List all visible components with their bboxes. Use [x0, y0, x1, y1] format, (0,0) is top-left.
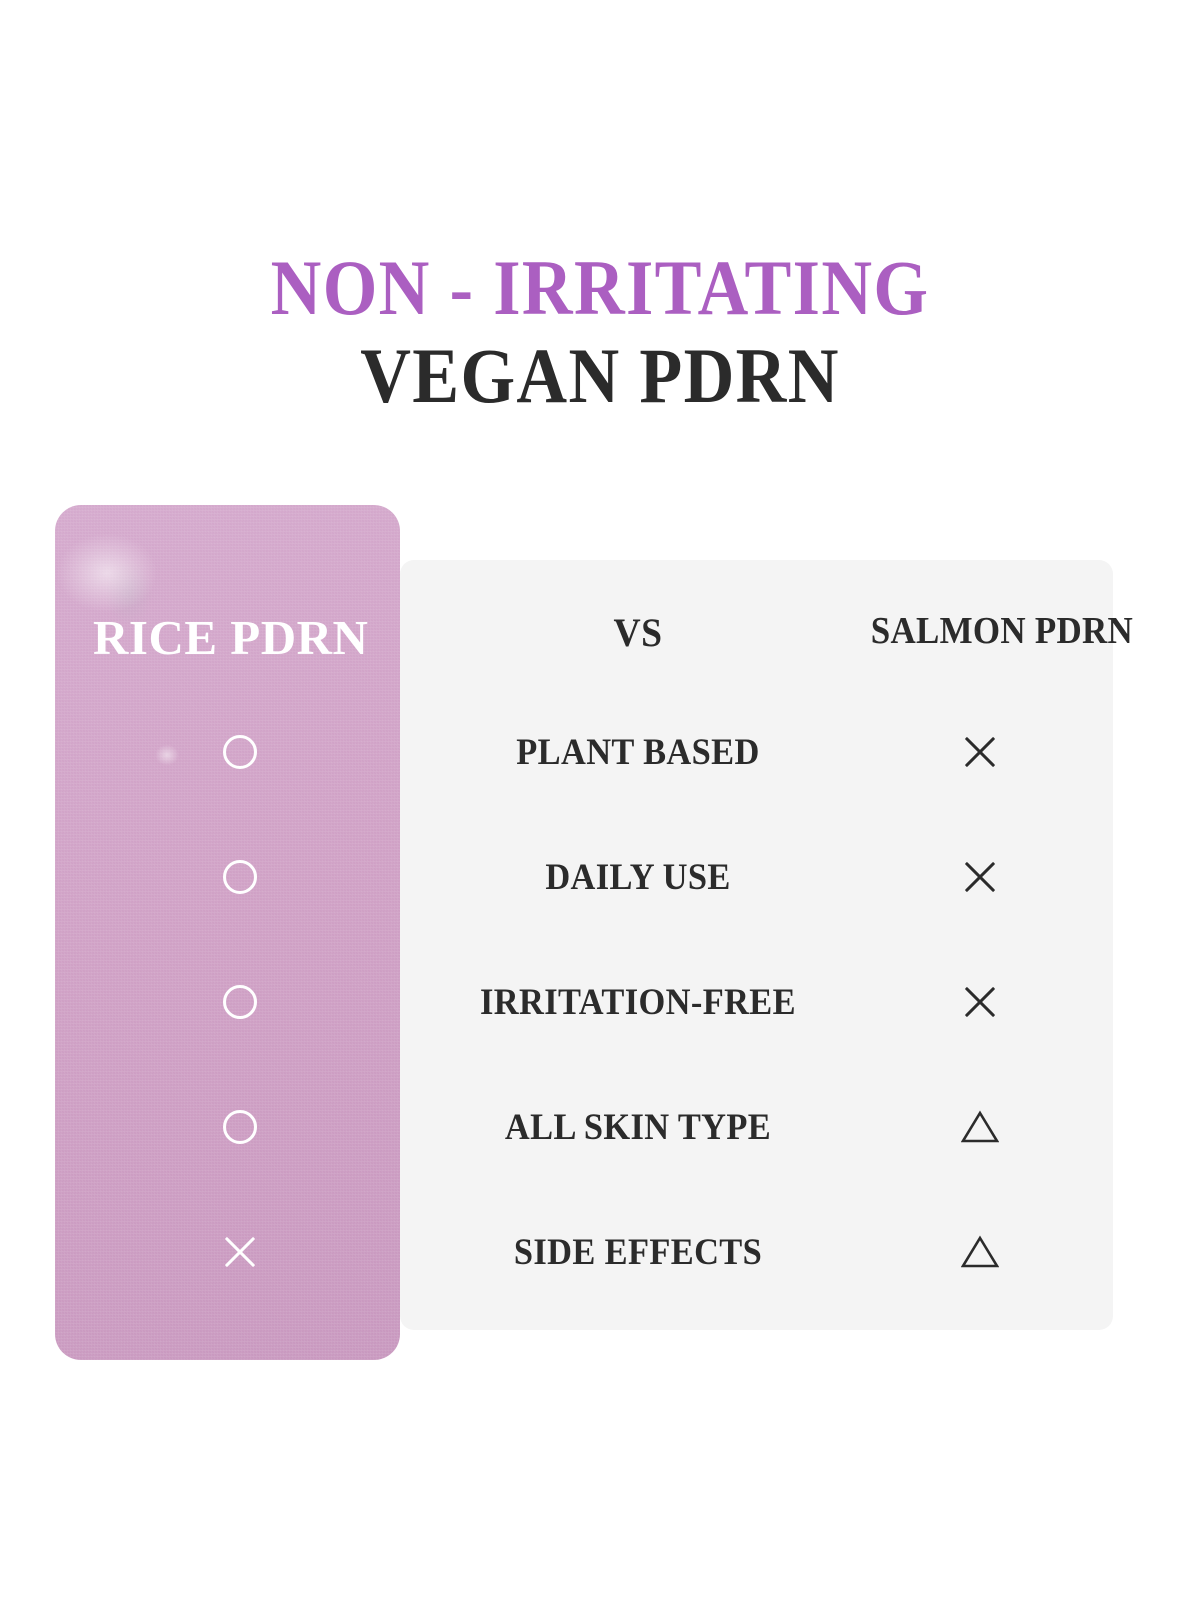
comparison-table: RICE PDRN VS SALMON PDRN PLANT BASEDDAIL…	[55, 505, 1113, 1360]
headline-line-1: NON - IRRITATING	[60, 248, 1140, 328]
circle-icon	[223, 1110, 257, 1144]
salmon-pdrn-mark	[876, 722, 1113, 782]
rice-pdrn-mark	[55, 847, 400, 907]
cross-icon	[224, 1236, 256, 1268]
comparison-row: DAILY USE	[55, 847, 1113, 907]
comparison-row: SIDE EFFECTS	[55, 1222, 1113, 1282]
rice-pdrn-mark	[55, 1222, 400, 1282]
comparison-row: IRRITATION-FREE	[55, 972, 1113, 1032]
cross-icon	[964, 986, 996, 1018]
cross-icon	[964, 861, 996, 893]
rice-pdrn-mark	[55, 1097, 400, 1157]
rice-pdrn-mark	[55, 722, 400, 782]
headline-line-2: VEGAN PDRN	[60, 334, 1140, 418]
infographic-canvas: NON - IRRITATING VEGAN PDRN RICE PDRN VS…	[0, 0, 1200, 1600]
salmon-pdrn-mark	[876, 847, 1113, 907]
feature-label: DAILY USE	[417, 847, 860, 907]
circle-icon	[223, 735, 257, 769]
salmon-pdrn-mark	[876, 1222, 1113, 1282]
rice-pdrn-title: RICE PDRN	[55, 609, 400, 666]
page-title: NON - IRRITATING VEGAN PDRN	[0, 248, 1200, 418]
circle-icon	[223, 860, 257, 894]
feature-label: IRRITATION-FREE	[417, 972, 860, 1032]
salmon-pdrn-mark	[876, 1097, 1113, 1157]
rice-pdrn-mark	[55, 972, 400, 1032]
comparison-row: PLANT BASED	[55, 722, 1113, 782]
comparison-row: ALL SKIN TYPE	[55, 1097, 1113, 1157]
feature-label: ALL SKIN TYPE	[417, 1097, 860, 1157]
circle-icon	[223, 985, 257, 1019]
feature-label: PLANT BASED	[417, 722, 860, 782]
feature-label: SIDE EFFECTS	[417, 1222, 860, 1282]
triangle-icon	[961, 1235, 999, 1269]
salmon-pdrn-mark	[876, 972, 1113, 1032]
triangle-icon	[961, 1110, 999, 1144]
cross-icon	[964, 736, 996, 768]
